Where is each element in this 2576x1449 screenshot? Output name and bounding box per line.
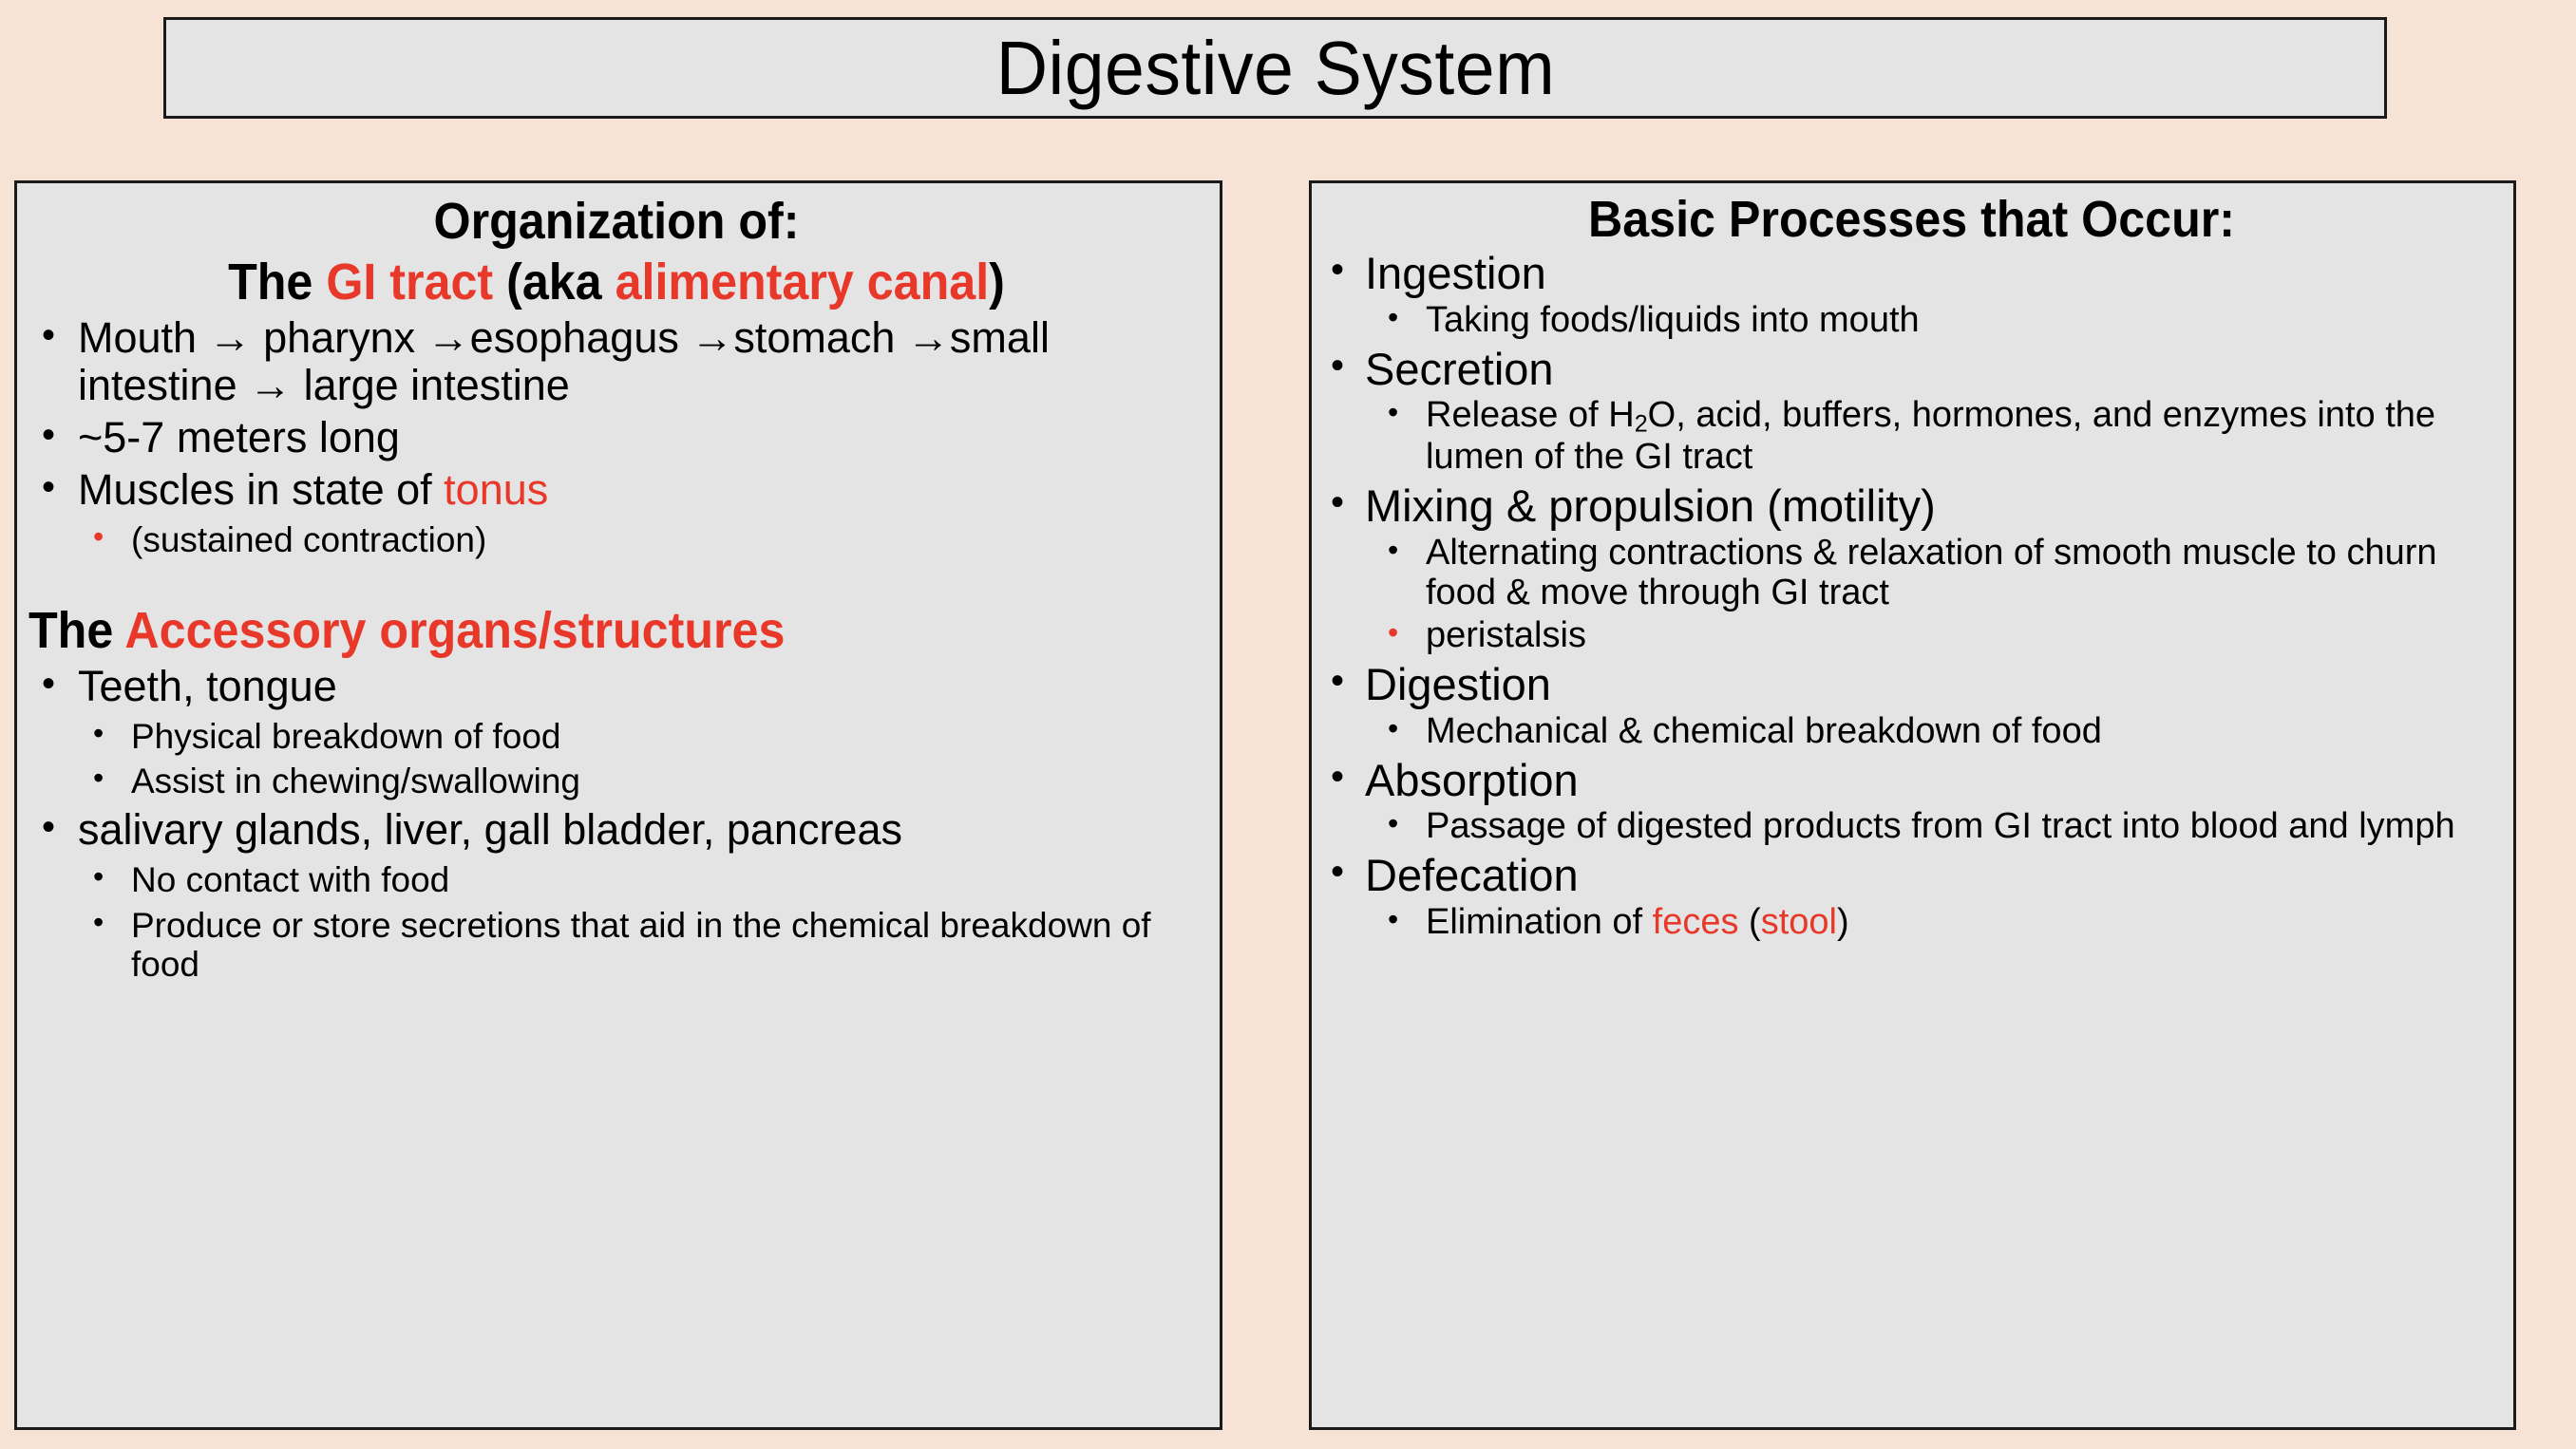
process-name: Digestion — [1365, 659, 1551, 709]
stool-term: stool — [1761, 902, 1837, 942]
list-item: (sustained contraction) — [78, 520, 1204, 559]
list-item: Alternating contractions & relaxation of… — [1365, 534, 2500, 613]
process-name: Secretion — [1365, 344, 1554, 394]
list-item: No contact with food — [78, 860, 1204, 899]
list-item: Mouth → pharynx →esophagus →stomach →sma… — [28, 314, 1204, 411]
process-detail-list: Mechanical & chemical breakdown of food — [1365, 712, 2500, 752]
detail-mid: ( — [1739, 902, 1761, 942]
process-list: IngestionTaking foods/liquids into mouth… — [1323, 249, 2500, 942]
list-item: Produce or store secretions that aid in … — [78, 906, 1204, 985]
list-item: AbsorptionPassage of digested products f… — [1323, 756, 2500, 847]
list-item-label: salivary glands, liver, gall bladder, pa… — [78, 805, 902, 854]
tonus-prefix: Muscles in state of — [78, 465, 444, 514]
process-name: Defecation — [1365, 850, 1579, 900]
process-detail-list: Release of H2O, acid, buffers, hormones,… — [1365, 396, 2500, 478]
gi-tract-bullet-list: Mouth → pharynx →esophagus →stomach →sma… — [28, 314, 1204, 560]
right-panel-heading: Basic Processes that Occur: — [1364, 193, 2458, 247]
tonus-sublist: (sustained contraction) — [78, 520, 1204, 559]
process-name: Absorption — [1365, 755, 1579, 805]
accessory-term: Accessory organs/structures — [124, 602, 785, 659]
accessory-prefix: The — [28, 602, 124, 659]
left-panel-heading: Organization of: — [69, 195, 1163, 249]
list-item: DigestionMechanical & chemical breakdown… — [1323, 660, 2500, 751]
gi-tract-suffix: ) — [989, 254, 1005, 310]
basic-processes-panel: Basic Processes that Occur: IngestionTak… — [1309, 180, 2516, 1430]
water-formula: H2O — [1608, 395, 1676, 435]
gi-tract-prefix: The — [228, 254, 326, 310]
process-name: Mixing & propulsion (motility) — [1365, 480, 1936, 531]
list-item-tonus: Muscles in state of tonus (sustained con… — [28, 466, 1204, 559]
accessory-organs-list: Teeth, tongue Physical breakdown of food… — [28, 663, 1204, 985]
list-item: IngestionTaking foods/liquids into mouth — [1323, 249, 2500, 340]
list-item: DefecationElimination of feces (stool) — [1323, 851, 2500, 942]
tonus-term: tonus — [444, 465, 548, 514]
process-detail-list: Passage of digested products from GI tra… — [1365, 807, 2500, 847]
slide-title-box: Digestive System — [163, 17, 2387, 119]
list-item: Elimination of feces (stool) — [1365, 903, 2500, 943]
gi-tract-heading: The GI tract (aka alimentary canal) — [69, 254, 1163, 310]
process-detail-list: Alternating contractions & relaxation of… — [1365, 534, 2500, 656]
list-item: Release of H2O, acid, buffers, hormones,… — [1365, 396, 2500, 478]
teeth-tongue-sublist: Physical breakdown of food Assist in che… — [78, 717, 1204, 801]
list-item: salivary glands, liver, gall bladder, pa… — [28, 806, 1204, 984]
list-item: Mechanical & chemical breakdown of food — [1365, 712, 2500, 752]
list-item: peristalsis — [1365, 616, 2500, 656]
gi-tract-middle: (aka — [493, 254, 615, 310]
list-item: SecretionRelease of H2O, acid, buffers, … — [1323, 345, 2500, 479]
process-name: Ingestion — [1365, 248, 1546, 298]
process-detail-list: Taking foods/liquids into mouth — [1365, 301, 2500, 341]
list-item: Passage of digested products from GI tra… — [1365, 807, 2500, 847]
list-item-label: Teeth, tongue — [78, 662, 337, 710]
feces-term: feces — [1653, 902, 1739, 942]
alimentary-canal-term: alimentary canal — [616, 254, 990, 310]
list-item: Mixing & propulsion (motility)Alternatin… — [1323, 481, 2500, 656]
list-item: ~5-7 meters long — [28, 414, 1204, 462]
section-spacer — [28, 565, 1204, 597]
list-item: Teeth, tongue Physical breakdown of food… — [28, 663, 1204, 801]
process-detail-list: Elimination of feces (stool) — [1365, 903, 2500, 943]
organization-panel: Organization of: The GI tract (aka alime… — [14, 180, 1222, 1430]
list-item: Taking foods/liquids into mouth — [1365, 301, 2500, 341]
accessory-organs-heading: The Accessory organs/structures — [28, 603, 1122, 658]
detail-suffix: ) — [1837, 902, 1849, 942]
page-title: Digestive System — [995, 30, 1554, 106]
detail-prefix: Elimination of — [1426, 902, 1653, 942]
list-item: Assist in chewing/swallowing — [78, 762, 1204, 800]
gi-tract-term: GI tract — [326, 254, 493, 310]
list-item: Physical breakdown of food — [78, 717, 1204, 756]
glands-sublist: No contact with food Produce or store se… — [78, 860, 1204, 984]
